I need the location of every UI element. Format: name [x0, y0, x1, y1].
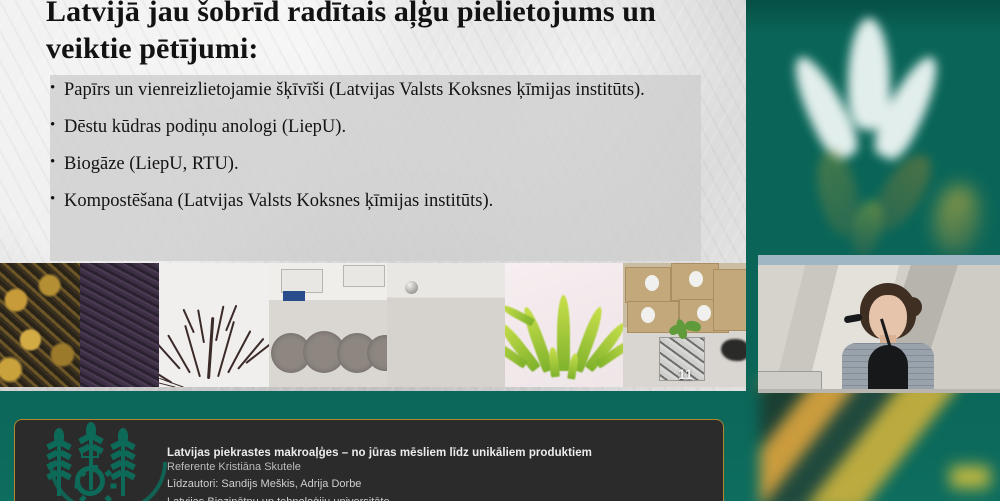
banner-text-block: Latvijas piekrastes makroaļģes – no jūra… — [167, 446, 703, 501]
list-item: • Papīrs un vienreizlietojamie šķīvīši (… — [50, 78, 710, 102]
photo-dark-algae-mass — [80, 263, 159, 387]
broadcast-stage: Latvijā jau šobrīd radītais aļģu pieliet… — [0, 0, 1000, 501]
wheat-stalk-icon — [49, 436, 69, 496]
banner-presenter: Referente Kristiāna Skutele — [167, 460, 703, 476]
photo-seaweed-on-rock — [0, 263, 80, 387]
bullet-text: Biogāze (LiepU, RTU). — [64, 152, 710, 176]
diagonal-ribbon-decoration — [760, 380, 1000, 501]
bullet-marker-icon: • — [50, 78, 64, 102]
lbtu-wheat-gear-logo — [41, 426, 139, 501]
bullet-text: Papīrs un vienreizlietojamie šķīvīši (La… — [64, 78, 710, 102]
photo-red-algae-specimen — [159, 263, 269, 387]
list-item: • Biogāze (LiepU, RTU). — [50, 152, 710, 176]
bullet-marker-icon: • — [50, 152, 64, 176]
plant-motif-icon — [790, 10, 950, 240]
list-item: • Kompostēšana (Latvijas Valsts Koksnes … — [50, 189, 710, 213]
banner-coauthors: Līdzautori: Sandijs Meškis, Adrija Dorbe — [167, 476, 703, 494]
bullet-marker-icon: • — [50, 115, 64, 139]
photo-green-alga — [505, 263, 623, 387]
slide-title: Latvijā jau šobrīd radītais aļģu pieliet… — [46, 0, 726, 67]
slide-photo-strip — [0, 263, 746, 387]
bullet-text: Kompostēšana (Latvijas Valsts Koksnes ķī… — [64, 189, 710, 213]
lower-third-banner: Latvijas piekrastes makroaļģes – no jūra… — [14, 419, 724, 501]
list-item: • Dēstu kūdras podiņu anologi (LiepU). — [50, 115, 710, 139]
slide-number: 11 — [678, 366, 693, 382]
presentation-slide: Latvijā jau šobrīd radītais aļģu pieliet… — [0, 0, 746, 391]
slide-bullet-list: • Papīrs un vienreizlietojamie šķīvīši (… — [50, 78, 710, 213]
gear-icon — [75, 466, 105, 496]
banner-organization: Latvijas Biozinātņu un tehnoloģiju unive… — [167, 494, 703, 501]
speaker-video-thumbnail[interactable] — [758, 255, 1000, 393]
photo-lab-paper-discs — [269, 263, 387, 387]
banner-title: Latvijas piekrastes makroaļģes – no jūra… — [167, 446, 703, 460]
bullet-text: Dēstu kūdras podiņu anologi (LiepU). — [64, 115, 710, 139]
bullet-marker-icon: • — [50, 189, 64, 213]
photo-lab-scale-discs — [387, 263, 505, 387]
